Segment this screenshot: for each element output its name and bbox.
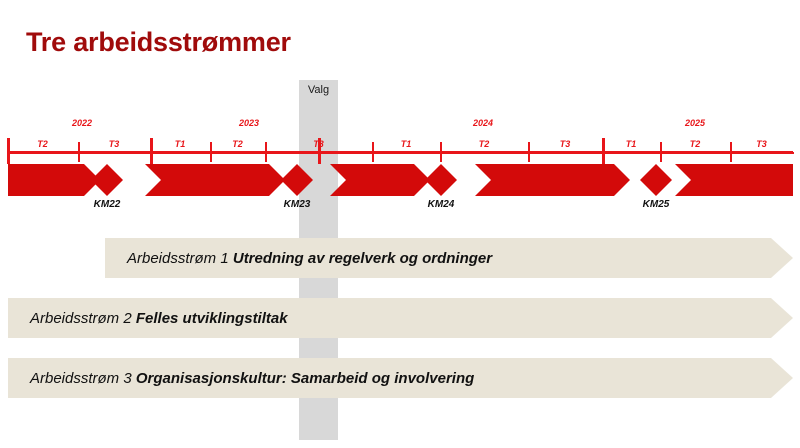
axis-line xyxy=(7,151,793,154)
period-label-5: T1 xyxy=(372,139,440,149)
period-label-2: T1 xyxy=(150,139,210,149)
workstream-1-prefix: Arbeidsstrøm 1 xyxy=(127,250,233,267)
axis-line-tail xyxy=(730,152,794,154)
milestone-diamond-KM24[interactable] xyxy=(425,164,457,196)
workstream-banner-3[interactable]: Arbeidsstrøm 3 Organisasjonskultur: Sama… xyxy=(8,358,793,398)
workstream-banner-1[interactable]: Arbeidsstrøm 1 Utredning av regelverk og… xyxy=(105,238,793,278)
phase-bar-2 xyxy=(330,164,430,196)
workstream-2-name: Felles utviklingstiltak xyxy=(136,310,288,327)
milestone-diamond-KM25[interactable] xyxy=(640,164,672,196)
phase-bar-3 xyxy=(475,164,630,196)
workstream-2-text: Arbeidsstrøm 2 Felles utviklingstiltak xyxy=(8,310,288,327)
phase-bar-row: KM22KM23KM24KM25 xyxy=(0,164,800,196)
workstream-2-prefix: Arbeidsstrøm 2 xyxy=(30,310,136,327)
period-label-3: T2 xyxy=(210,139,265,149)
period-label-8: T1 xyxy=(602,139,660,149)
workstream-banner-2[interactable]: Arbeidsstrøm 2 Felles utviklingstiltak xyxy=(8,298,793,338)
period-label-9: T2 xyxy=(660,139,730,149)
milestone-label-KM23: KM23 xyxy=(267,199,327,210)
page-title: Tre arbeidsstrømmer xyxy=(26,27,291,58)
workstream-3-name: Organisasjonskultur: Samarbeid og involv… xyxy=(136,370,474,387)
valg-label: Valg xyxy=(299,84,338,96)
milestone-diamond-KM22[interactable] xyxy=(91,164,123,196)
year-label-2024: 2024 xyxy=(458,118,508,128)
period-label-7: T3 xyxy=(528,139,602,149)
period-label-10: T3 xyxy=(730,139,793,149)
milestone-label-KM24: KM24 xyxy=(411,199,471,210)
year-label-2025: 2025 xyxy=(670,118,720,128)
milestone-label-KM25: KM25 xyxy=(626,199,686,210)
year-label-2023: 2023 xyxy=(224,118,274,128)
period-label-0: T2 xyxy=(7,139,78,149)
workstream-1-name: Utredning av regelverk og ordninger xyxy=(233,250,492,267)
workstream-3-text: Arbeidsstrøm 3 Organisasjonskultur: Sama… xyxy=(8,370,474,387)
phase-bar-0 xyxy=(8,164,100,196)
timeline-axis: T2T3T1T2T3T1T2T3T1T2T3 2022202320242025 xyxy=(0,110,800,160)
workstream-3-prefix: Arbeidsstrøm 3 xyxy=(30,370,136,387)
milestone-label-KM22: KM22 xyxy=(77,199,137,210)
phase-bar-4 xyxy=(675,164,793,196)
phase-bar-1 xyxy=(145,164,285,196)
period-label-1: T3 xyxy=(78,139,150,149)
milestone-diamond-KM23[interactable] xyxy=(281,164,313,196)
period-label-4: T3 xyxy=(265,139,372,149)
workstream-1-text: Arbeidsstrøm 1 Utredning av regelverk og… xyxy=(105,250,492,267)
year-label-2022: 2022 xyxy=(57,118,107,128)
period-label-6: T2 xyxy=(440,139,528,149)
